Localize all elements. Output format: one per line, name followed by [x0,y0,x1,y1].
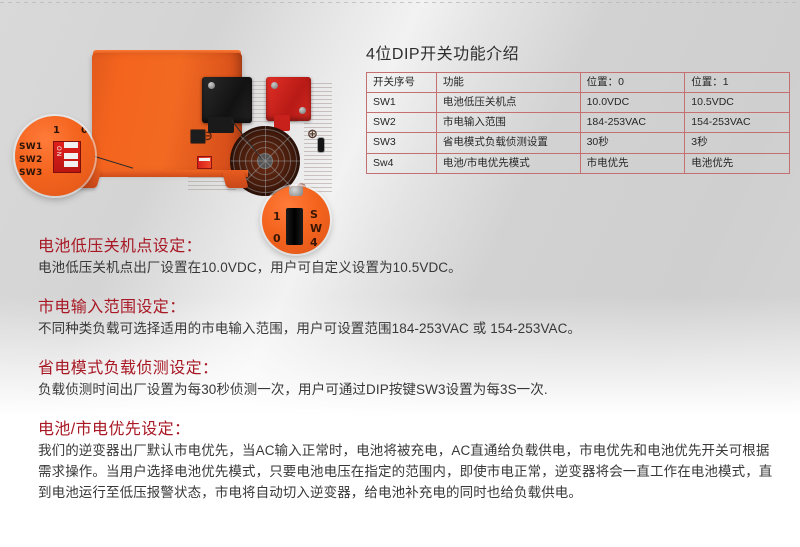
sw4-letter-s: S [310,208,318,221]
top-dashed-rule [0,2,800,3]
dip-lever-3 [64,142,78,148]
table-row: SW2 市电输入范围 184-253VAC 154-253VAC [367,113,790,133]
th-switch-no: 开关序号 [367,73,437,93]
cell-position-1: 3秒 [685,133,790,153]
cell-switch-no: SW2 [367,113,437,133]
cell-position-0: 30秒 [580,133,685,153]
terminal-screw [271,82,278,89]
th-position-0: 位置：0 [580,73,685,93]
section-heading: 市电输入范围设定： [38,293,783,317]
terminal-screw [299,107,306,114]
product-info-page: ⊖ ⊕ 1 0 [0,0,800,547]
table-row: SW1 电池低压关机点 10.0VDC 10.5VDC [367,93,790,113]
table-row: SW3 省电模式负载侦测设置 30秒 3秒 [367,133,790,153]
cell-switch-no: SW3 [367,133,437,153]
dip-position-0-label: 0 [81,125,88,136]
label-sw1: SW1 [19,142,43,152]
cell-switch-no: SW1 [367,93,437,113]
dip-lever-2 [64,161,78,167]
section-battery-cutoff: 电池低压关机点设定： 电池低压关机点出厂设置在10.0VDC，用户可自定义设置为… [38,232,783,279]
description-sections: 电池低压关机点设定： 电池低压关机点出厂设置在10.0VDC，用户可自定义设置为… [38,232,783,518]
section-ac-input-range: 市电输入范围设定： 不同种类负载可选择适用的市电输入范围，用户可设置范围184-… [38,293,783,340]
sw4-position-1-label: 1 [273,210,281,223]
dip-function-table: 开关序号 功能 位置：0 位置：1 SW1 电池低压关机点 10.0VDC 10… [366,72,790,174]
cell-function: 电池/市电优先模式 [436,153,580,173]
cell-position-0: 市电优先 [580,153,685,173]
section-heading: 电池低压关机点设定： [38,232,783,256]
cell-function: 电池低压关机点 [436,93,580,113]
section-priority-mode: 电池/市电优先设定： 我们的逆变器出厂默认市电优先，当AC输入正常时，电池将被充… [38,415,783,504]
panel-screw-icon [289,186,303,196]
remote-port [190,129,206,144]
negative-terminal-cover [202,77,252,123]
cell-function: 省电模式负载侦测设置 [436,133,580,153]
label-sw2: SW2 [19,155,43,165]
terminal-screw [208,82,215,89]
section-body: 我们的逆变器出厂默认市电优先，当AC输入正常时，电池将被充电，AC直通给负载供电… [38,441,783,504]
cell-switch-no: Sw4 [367,153,437,173]
cell-function: 市电输入范围 [436,113,580,133]
dip-switch-on-device [197,156,212,169]
section-power-save-detect: 省电模式负载侦测设定： 负载侦测时间出厂设置为每30秒侦测一次，用户可通过DIP… [38,354,783,401]
positive-polarity-icon: ⊕ [307,128,318,141]
page-title: 4位DIP开关功能介绍 [366,40,519,64]
positive-terminal-cover [266,77,311,121]
th-function: 功能 [436,73,580,93]
inverter-product-photo: ⊖ ⊕ 1 0 [0,28,360,243]
dip-on-text: ON [55,146,62,157]
dip-switch-magnified: ON [53,141,81,173]
sw4-toggle-on-device [318,138,324,152]
inverter-chassis: ⊖ ⊕ [92,53,242,173]
section-body: 不同种类负载可选择适用的市电输入范围，用户可设置范围184-253VAC 或 1… [38,319,783,340]
th-position-1: 位置：1 [685,73,790,93]
cell-position-0: 184-253VAC [580,113,685,133]
dip-position-1-label: 1 [53,125,60,136]
label-sw3: SW3 [19,168,43,178]
cell-position-0: 10.0VDC [580,93,685,113]
table-row: Sw4 电池/市电优先模式 市电优先 电池优先 [367,153,790,173]
section-body: 电池低压关机点出厂设置在10.0VDC，用户可自定义设置为10.5VDC。 [38,258,783,279]
cell-position-1: 154-253VAC [685,113,790,133]
cell-position-1: 10.5VDC [685,93,790,113]
section-body: 负载侦测时间出厂设置为每30秒侦测一次，用户可通过DIP按键SW3设置为每3S一… [38,380,783,401]
section-heading: 省电模式负载侦测设定： [38,354,783,378]
cell-position-1: 电池优先 [685,153,790,173]
dip-lever-1 [64,153,78,159]
section-heading: 电池/市电优先设定： [38,415,783,439]
dip-switch-closeup-bubble: 1 0 SW1 SW2 SW3 ON [15,116,95,196]
table-header-row: 开关序号 功能 位置：0 位置：1 [367,73,790,93]
